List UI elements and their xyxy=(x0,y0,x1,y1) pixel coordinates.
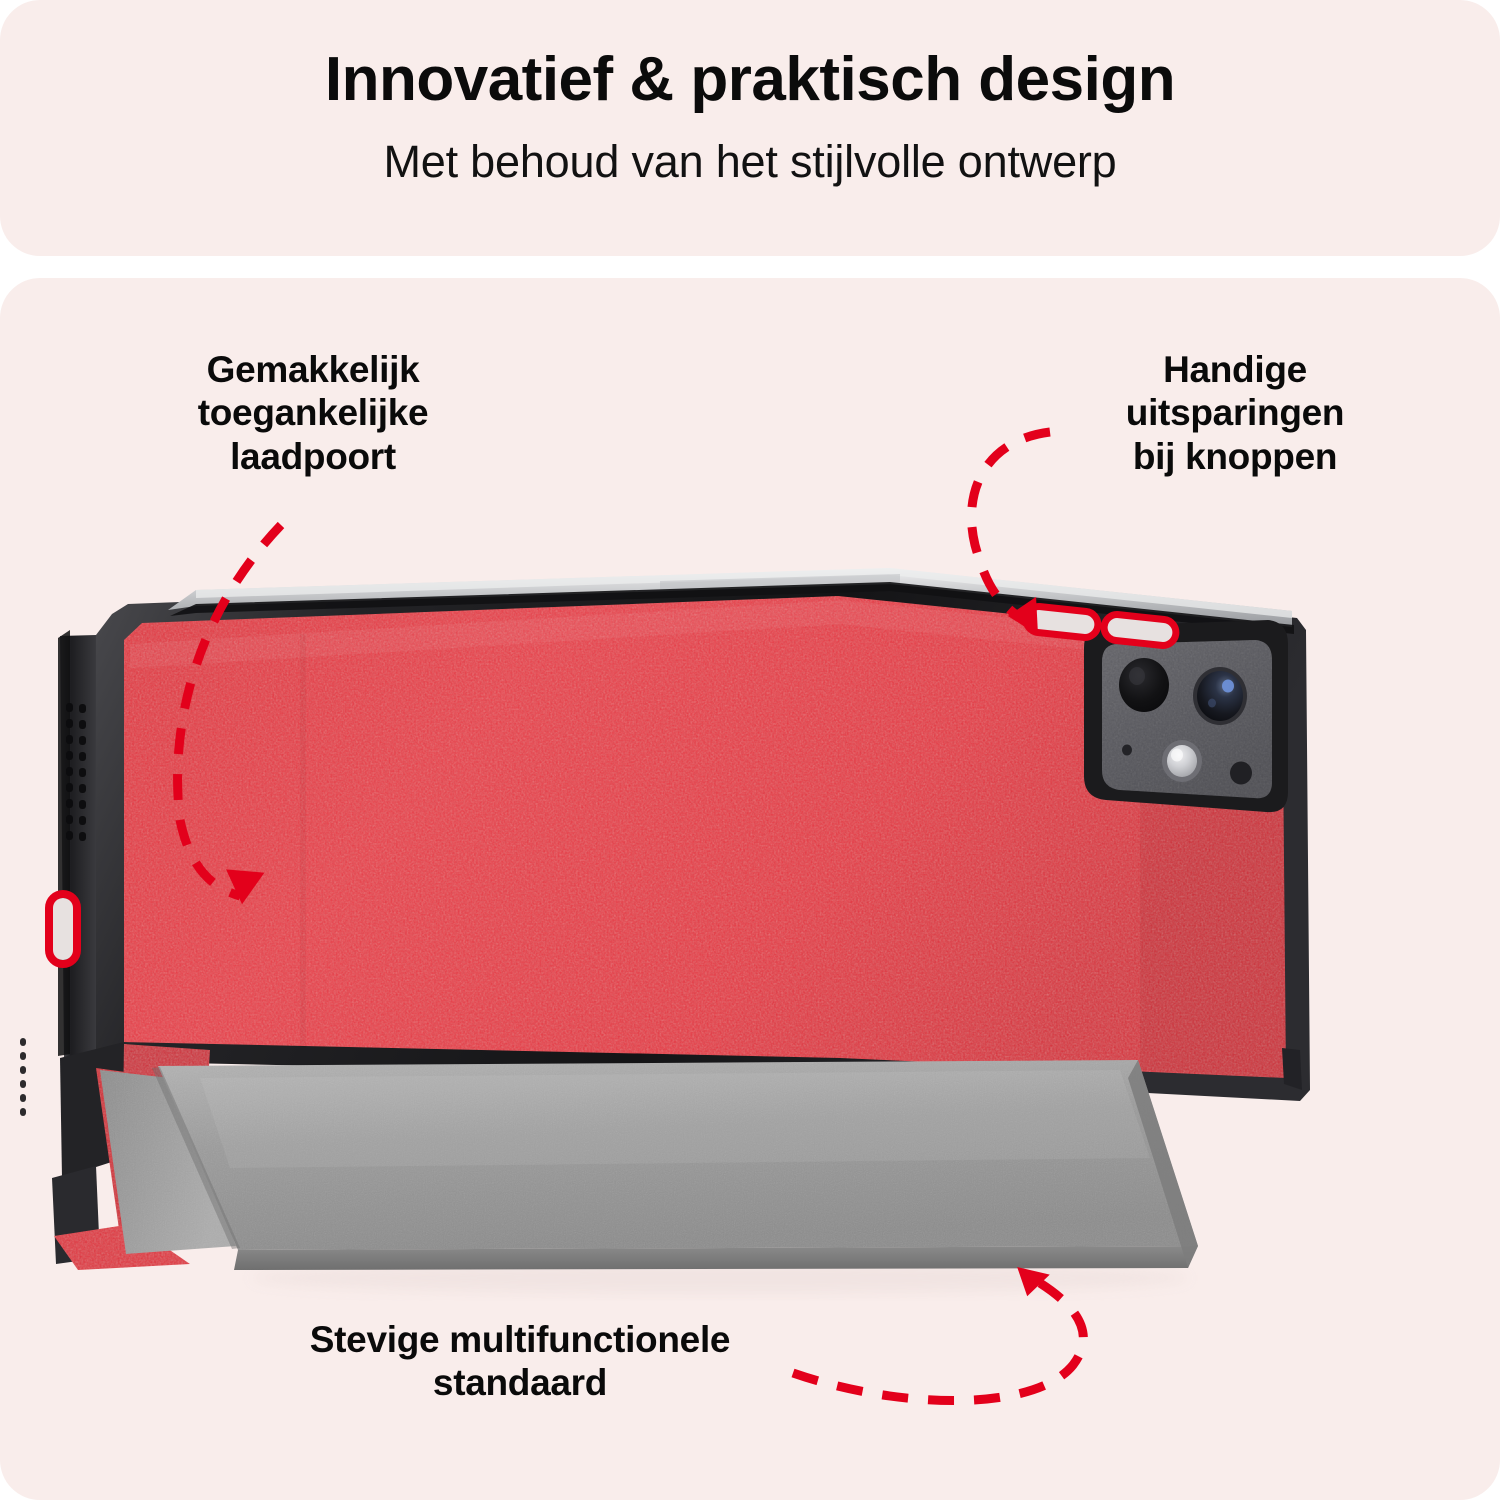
callout-line: standaard xyxy=(215,1361,825,1404)
infographic-page: Innovatief & praktisch design Met behoud… xyxy=(0,0,1500,1500)
callout-line: bij knoppen xyxy=(1040,435,1430,478)
callout-line: Stevige multifunctionele xyxy=(215,1318,825,1361)
page-title: Innovatief & praktisch design xyxy=(0,46,1500,114)
callout-stand: Stevige multifunctionele standaard xyxy=(215,1318,825,1405)
page-subtitle: Met behoud van het stijlvolle ontwerp xyxy=(0,137,1500,187)
callout-line: toegankelijke xyxy=(118,391,508,434)
header-panel: Innovatief & praktisch design Met behoud… xyxy=(0,0,1500,256)
callout-line: laadpoort xyxy=(118,435,508,478)
callout-line: uitsparingen xyxy=(1040,391,1430,434)
callout-button-cutouts: Handige uitsparingen bij knoppen xyxy=(1040,348,1430,478)
callout-line: Gemakkelijk xyxy=(118,348,508,391)
callout-line: Handige xyxy=(1040,348,1430,391)
callout-charging-port: Gemakkelijk toegankelijke laadpoort xyxy=(118,348,508,478)
